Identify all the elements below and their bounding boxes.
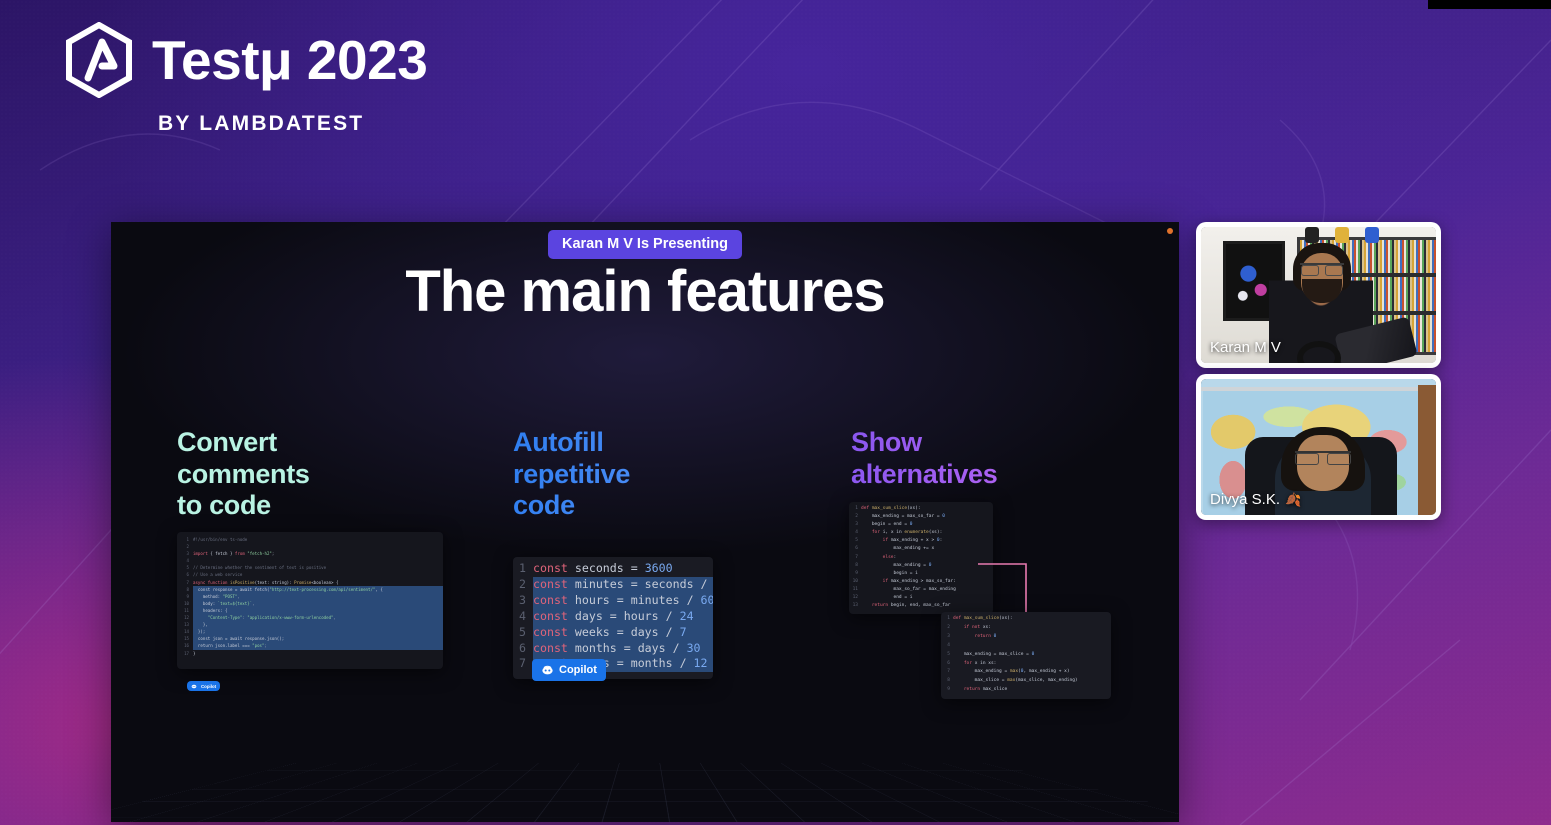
code-text: const seconds = 3600 [533, 561, 713, 577]
code-line: 2const minutes = seconds / 60 [513, 577, 713, 593]
code-text [193, 543, 443, 550]
participant-tile-karan[interactable]: Karan M V [1196, 222, 1441, 368]
code-line: 9 return max_slice [941, 686, 1111, 695]
code-text: headers: { [193, 607, 443, 614]
code-line: 4 for i, x in enumerate(xs): [849, 529, 993, 537]
line-number: 3 [177, 550, 193, 557]
slide-title: The main features [111, 258, 1179, 325]
code-line: 8 max_slice = max(max_slice, max_ending) [941, 677, 1111, 686]
line-number: 4 [849, 529, 861, 537]
line-number: 4 [177, 557, 193, 564]
code-line: 4 [177, 557, 443, 564]
code-line: 5const weeks = days / 7 [513, 625, 713, 641]
code-line: 7 else: [849, 554, 993, 562]
code-line: 13 return begin, end, max_so_far [849, 602, 993, 610]
line-number: 6 [513, 641, 533, 657]
line-number: 2 [941, 624, 953, 633]
line-number: 1 [513, 561, 533, 577]
code-line: 8 const response = await fetch("http://t… [177, 586, 443, 593]
line-number: 5 [941, 651, 953, 660]
line-number: 8 [941, 677, 953, 686]
code-line: 15 const json = await response.json(); [177, 635, 443, 642]
line-number: 8 [177, 586, 193, 593]
code-text: }, [193, 621, 443, 628]
participant-name-label: Divya S.K. 🍂 [1210, 491, 1301, 508]
feature-column-alternatives: Show alternatives [851, 427, 1151, 490]
code-line: 9 begin = i [849, 570, 993, 578]
line-number: 3 [849, 521, 861, 529]
code-text: const weeks = days / 7 [533, 625, 713, 641]
line-number: 10 [849, 578, 861, 586]
line-number: 10 [177, 600, 193, 607]
code-line: 2 if not xs: [941, 624, 1111, 633]
code-line: 5// Determine whether the sentiment of t… [177, 564, 443, 571]
copilot-badge-center[interactable]: Copilot [532, 659, 606, 681]
recording-indicator-dot [1167, 228, 1173, 234]
code-line: 4const days = hours / 24 [513, 609, 713, 625]
code-block-python-primary: 1def max_sum_slice(xs):2 max_ending = ma… [849, 502, 993, 614]
code-line: 6// Use a web service [177, 571, 443, 578]
line-number: 1 [941, 615, 953, 624]
code-line: 13 }, [177, 621, 443, 628]
code-line: 1def max_sum_slice(xs): [849, 505, 993, 513]
code-line: 16 return json.label === "pos"; [177, 642, 443, 649]
code-text: "Content-Type": "application/x-www-form-… [193, 614, 443, 621]
code-text: #!/usr/bin/env ts-node [193, 536, 443, 543]
code-line: 4 [941, 642, 1111, 651]
code-line: 2 [177, 543, 443, 550]
code-text: for i, x in enumerate(xs): [861, 529, 993, 537]
code-text: def max_sum_slice(xs): [861, 505, 993, 513]
copilot-icon [541, 663, 554, 676]
code-text: const response = await fetch("http://tex… [193, 586, 443, 593]
feature-heading: Show alternatives [851, 427, 1151, 490]
code-line: 3const hours = minutes / 60 [513, 593, 713, 609]
line-number: 9 [941, 686, 953, 695]
code-line: 14 }); [177, 628, 443, 635]
line-number: 7 [941, 668, 953, 677]
code-line: 9 method: "POST", [177, 593, 443, 600]
line-number: 3 [513, 593, 533, 609]
code-block-typescript: 1#!/usr/bin/env ts-node2 3import { fetch… [177, 532, 443, 669]
code-line: 8 max_ending = 0 [849, 562, 993, 570]
code-text [953, 642, 1111, 651]
code-line: 6const months = days / 30 [513, 641, 713, 657]
code-text: max_ending = 0 [861, 562, 993, 570]
shelf-figurines [1305, 227, 1379, 243]
code-text: }); [193, 628, 443, 635]
feature-heading: Autofill repetitive code [513, 427, 813, 522]
line-number: 14 [177, 628, 193, 635]
line-number: 5 [513, 625, 533, 641]
code-text: max_slice = max(max_slice, max_ending) [953, 677, 1111, 686]
line-number: 11 [177, 607, 193, 614]
code-text: async function isPositive(text: string):… [193, 579, 443, 586]
code-line: 7async function isPositive(text: string)… [177, 579, 443, 586]
line-number: 6 [177, 571, 193, 578]
code-line: 6 for x in xs: [941, 660, 1111, 669]
line-number: 7 [849, 554, 861, 562]
code-text: return json.label === "pos"; [193, 642, 443, 649]
brand-title: Testμ 2023 [152, 33, 427, 88]
line-number: 3 [941, 633, 953, 642]
code-line: 12 end = i [849, 594, 993, 602]
code-text: const minutes = seconds / 60 [533, 577, 713, 593]
presentation-slide-panel[interactable]: Karan M V Is Presenting The main feature… [111, 222, 1179, 822]
code-line: 5 if max_ending + x > 0: [849, 537, 993, 545]
code-text: body: `text=${text}`, [193, 600, 443, 607]
code-line: 6 max_ending += x [849, 545, 993, 553]
code-text: if not xs: [953, 624, 1111, 633]
code-text: else: [861, 554, 993, 562]
code-text: // Use a web service [193, 571, 443, 578]
participant-emoji: 🍂 [1285, 492, 1301, 508]
line-number: 9 [177, 593, 193, 600]
line-number: 7 [177, 579, 193, 586]
feature-column-autofill: Autofill repetitive code [513, 427, 813, 522]
code-text: max_so_far = max_ending [861, 586, 993, 594]
code-text: const days = hours / 24 [533, 609, 713, 625]
line-number: 9 [849, 570, 861, 578]
line-number: 4 [941, 642, 953, 651]
code-text: return 0 [953, 633, 1111, 642]
brand-subtitle: BY LAMBDATEST [158, 112, 582, 136]
code-line: 10 if max_ending > max_so_far: [849, 578, 993, 586]
lambdatest-hexagon-logo-icon [62, 22, 136, 98]
code-line: 1const seconds = 3600 [513, 561, 713, 577]
line-number: 7 [513, 656, 533, 672]
line-number: 5 [849, 537, 861, 545]
code-text: const hours = minutes / 60 [533, 593, 713, 609]
line-number: 1 [177, 536, 193, 543]
copilot-label: Copilot [201, 684, 216, 689]
copilot-badge-left[interactable]: Copilot [187, 681, 220, 691]
code-text: begin = end = 0 [861, 521, 993, 529]
line-number: 15 [177, 635, 193, 642]
line-number: 2 [513, 577, 533, 593]
code-text: begin = i [861, 570, 993, 578]
code-line: 7 max_ending = max(0, max_ending + x) [941, 668, 1111, 677]
presenting-badge: Karan M V Is Presenting [548, 230, 742, 259]
line-number: 2 [849, 513, 861, 521]
code-text [193, 557, 443, 564]
code-line: 3import { fetch } from "fetch-h2"; [177, 550, 443, 557]
brand-lockup: Testμ 2023 BY LAMBDATEST [62, 22, 582, 136]
code-line: 2 max_ending = max_so_far = 0 [849, 513, 993, 521]
code-line: 11 headers: { [177, 607, 443, 614]
code-line: 10 body: `text=${text}`, [177, 600, 443, 607]
feature-column-convert: Convert comments to code [177, 427, 477, 522]
code-text: if max_ending + x > 0: [861, 537, 993, 545]
code-text: max_ending = max_so_far = 0 [861, 513, 993, 521]
code-line: 1#!/usr/bin/env ts-node [177, 536, 443, 543]
code-line: 3 return 0 [941, 633, 1111, 642]
copilot-icon [191, 683, 197, 689]
line-number: 12 [177, 614, 193, 621]
line-number: 5 [177, 564, 193, 571]
code-text: } [193, 650, 443, 657]
line-number: 2 [177, 543, 193, 550]
line-number: 12 [849, 594, 861, 602]
line-number: 11 [849, 586, 861, 594]
code-text: def max_sum_slice(xs): [953, 615, 1111, 624]
line-number: 4 [513, 609, 533, 625]
line-number: 13 [849, 602, 861, 610]
code-text: max_ending += x [861, 545, 993, 553]
code-text: const months = days / 30 [533, 641, 713, 657]
copilot-label: Copilot [559, 664, 597, 676]
line-number: 13 [177, 621, 193, 628]
code-text: end = i [861, 594, 993, 602]
code-text: max_ending = max_slice = 0 [953, 651, 1111, 660]
slide-perspective-grid [111, 763, 1179, 822]
code-text: // Determine whether the sentiment of te… [193, 564, 443, 571]
participant-name-label: Karan M V [1210, 339, 1286, 356]
code-text: const json = await response.json(); [193, 635, 443, 642]
line-number: 8 [849, 562, 861, 570]
line-number: 16 [177, 642, 193, 649]
code-text: if max_ending > max_so_far: [861, 578, 993, 586]
line-number: 17 [177, 650, 193, 657]
code-line: 5 max_ending = max_slice = 0 [941, 651, 1111, 660]
line-number: 6 [849, 545, 861, 553]
code-text: import { fetch } from "fetch-h2"; [193, 550, 443, 557]
code-line: 3 begin = end = 0 [849, 521, 993, 529]
code-text: return max_slice [953, 686, 1111, 695]
code-line: 11 max_so_far = max_ending [849, 586, 993, 594]
code-text: method: "POST", [193, 593, 443, 600]
code-text: max_ending = max(0, max_ending + x) [953, 668, 1111, 677]
line-number: 1 [849, 505, 861, 513]
code-line: 12 "Content-Type": "application/x-www-fo… [177, 614, 443, 621]
code-text: return begin, end, max_so_far [861, 602, 993, 610]
participant-tile-divya[interactable]: Divya S.K. 🍂 [1196, 374, 1441, 520]
top-black-overlay-bar [1428, 0, 1551, 9]
line-number: 6 [941, 660, 953, 669]
code-line: 17} [177, 650, 443, 657]
code-line: 1def max_sum_slice(xs): [941, 615, 1111, 624]
feature-heading: Convert comments to code [177, 427, 477, 522]
code-text: for x in xs: [953, 660, 1111, 669]
code-block-python-alternative: 1def max_sum_slice(xs):2 if not xs:3 ret… [941, 612, 1111, 699]
